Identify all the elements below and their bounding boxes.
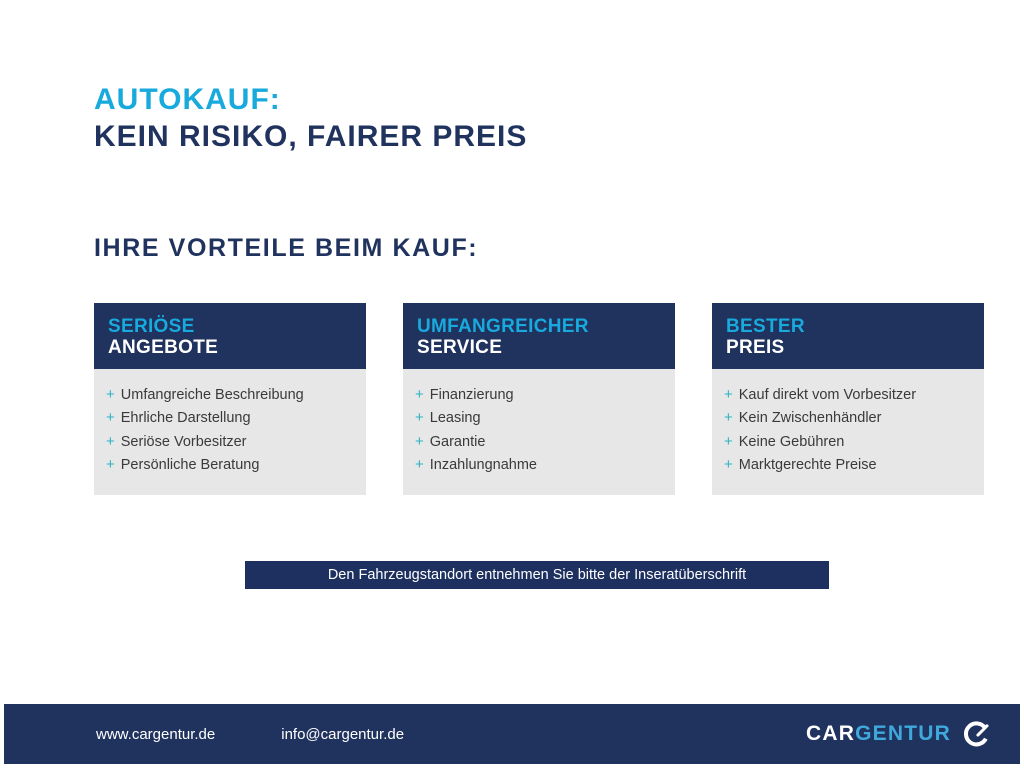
card-header-top: UMFANGREICHER [417,316,661,337]
c-swoosh-icon [962,720,990,748]
list-item: +Kauf direkt vom Vorbesitzer [724,383,972,406]
card-body: +Umfangreiche Beschreibung +Ehrliche Dar… [94,369,366,495]
brand-logo: CAR GENTUR [806,720,990,748]
headline-line-2: KEIN RISIKO, FAIRER PREIS [94,121,527,153]
list-item: +Marktgerechte Preise [724,453,972,476]
benefit-card: UMFANGREICHER SERVICE +Finanzierung +Lea… [403,303,675,495]
plus-icon: + [415,406,424,429]
list-item: +Umfangreiche Beschreibung [106,383,354,406]
plus-icon: + [106,383,115,406]
plus-icon: + [724,453,733,476]
section-title: IHRE VORTEILE BEIM KAUF: [94,234,478,263]
list-item-label: Persönliche Beratung [121,454,260,476]
plus-icon: + [724,383,733,406]
card-header-bottom: SERVICE [417,337,661,358]
card-header: BESTER PREIS [712,303,984,369]
card-list: +Finanzierung +Leasing +Garantie +Inzahl… [415,383,663,477]
list-item: +Garantie [415,430,663,453]
plus-icon: + [415,383,424,406]
list-item-label: Umfangreiche Beschreibung [121,384,304,406]
list-item: +Seriöse Vorbesitzer [106,430,354,453]
footer-email-link[interactable]: info@cargentur.de [281,726,404,743]
card-body: +Kauf direkt vom Vorbesitzer +Kein Zwisc… [712,369,984,495]
notice-bar: Den Fahrzeugstandort entnehmen Sie bitte… [245,561,829,589]
slide-root: AUTOKAUF: KEIN RISIKO, FAIRER PREIS IHRE… [0,0,1024,768]
logo-text-gentur: GENTUR [855,722,951,746]
plus-icon: + [106,406,115,429]
card-header-top: BESTER [726,316,970,337]
plus-icon: + [724,430,733,453]
list-item-label: Finanzierung [430,384,514,406]
list-item-label: Keine Gebühren [739,431,845,453]
list-item-label: Inzahlungnahme [430,454,537,476]
list-item: +Ehrliche Darstellung [106,406,354,429]
plus-icon: + [415,430,424,453]
card-list: +Kauf direkt vom Vorbesitzer +Kein Zwisc… [724,383,972,477]
card-header-top: SERIÖSE [108,316,352,337]
logo-text-car: CAR [806,722,855,746]
list-item: +Persönliche Beratung [106,453,354,476]
list-item: +Leasing [415,406,663,429]
list-item-label: Marktgerechte Preise [739,454,877,476]
headline-line-1: AUTOKAUF: [94,84,527,116]
card-header-bottom: ANGEBOTE [108,337,352,358]
list-item-label: Kauf direkt vom Vorbesitzer [739,384,916,406]
plus-icon: + [106,430,115,453]
footer-website-link[interactable]: www.cargentur.de [96,726,215,743]
notice-text: Den Fahrzeugstandort entnehmen Sie bitte… [328,567,746,583]
list-item-label: Kein Zwischenhändler [739,407,882,429]
benefit-cards: SERIÖSE ANGEBOTE +Umfangreiche Beschreib… [94,303,984,495]
card-header: SERIÖSE ANGEBOTE [94,303,366,369]
card-list: +Umfangreiche Beschreibung +Ehrliche Dar… [106,383,354,477]
page-title: AUTOKAUF: KEIN RISIKO, FAIRER PREIS [94,84,527,154]
plus-icon: + [724,406,733,429]
list-item: +Finanzierung [415,383,663,406]
list-item-label: Ehrliche Darstellung [121,407,251,429]
list-item-label: Leasing [430,407,481,429]
list-item-label: Garantie [430,431,486,453]
list-item: +Kein Zwischenhändler [724,406,972,429]
list-item: +Keine Gebühren [724,430,972,453]
plus-icon: + [106,453,115,476]
benefit-card: SERIÖSE ANGEBOTE +Umfangreiche Beschreib… [94,303,366,495]
card-header: UMFANGREICHER SERVICE [403,303,675,369]
list-item-label: Seriöse Vorbesitzer [121,431,247,453]
plus-icon: + [415,453,424,476]
card-header-bottom: PREIS [726,337,970,358]
benefit-card: BESTER PREIS +Kauf direkt vom Vorbesitze… [712,303,984,495]
footer-bar: www.cargentur.de info@cargentur.de CAR G… [4,704,1020,764]
card-body: +Finanzierung +Leasing +Garantie +Inzahl… [403,369,675,495]
list-item: +Inzahlungnahme [415,453,663,476]
